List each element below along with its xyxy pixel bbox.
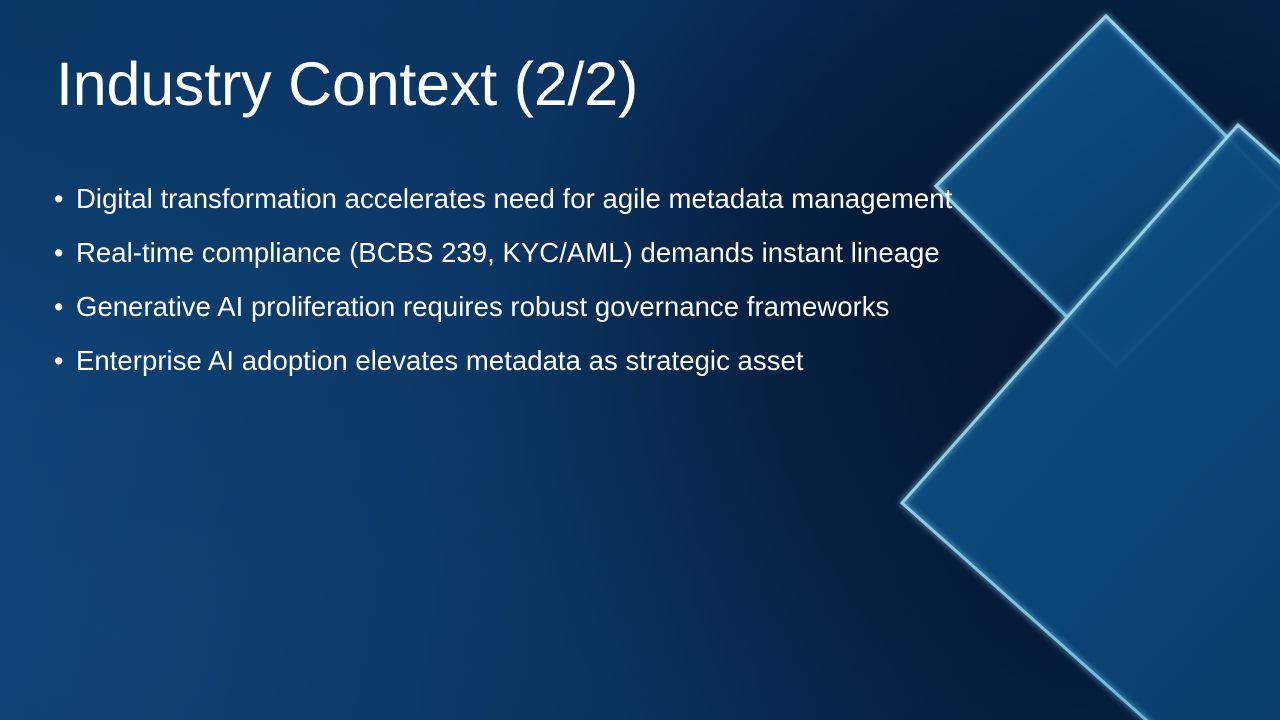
bullet-point-icon: • bbox=[54, 186, 76, 213]
list-item-label: Real-time compliance (BCBS 239, KYC/AML)… bbox=[76, 239, 940, 267]
bullet-list: • Digital transformation accelerates nee… bbox=[54, 185, 1154, 401]
bullet-point-icon: • bbox=[54, 294, 76, 321]
list-item-label: Enterprise AI adoption elevates metadata… bbox=[76, 347, 804, 375]
slide-canvas: Industry Context (2/2) • Digital transfo… bbox=[0, 0, 1280, 720]
list-item: • Enterprise AI adoption elevates metada… bbox=[54, 347, 1154, 401]
list-item: • Real-time compliance (BCBS 239, KYC/AM… bbox=[54, 239, 1154, 293]
list-item-label: Generative AI proliferation requires rob… bbox=[76, 293, 889, 321]
bullet-point-icon: • bbox=[54, 348, 76, 375]
list-item: • Generative AI proliferation requires r… bbox=[54, 293, 1154, 347]
bullet-point-icon: • bbox=[54, 240, 76, 267]
page-title: Industry Context (2/2) bbox=[56, 52, 638, 118]
list-item-label: Digital transformation accelerates need … bbox=[76, 185, 952, 213]
list-item: • Digital transformation accelerates nee… bbox=[54, 185, 1154, 239]
slide-content: Industry Context (2/2) • Digital transfo… bbox=[0, 0, 1280, 720]
